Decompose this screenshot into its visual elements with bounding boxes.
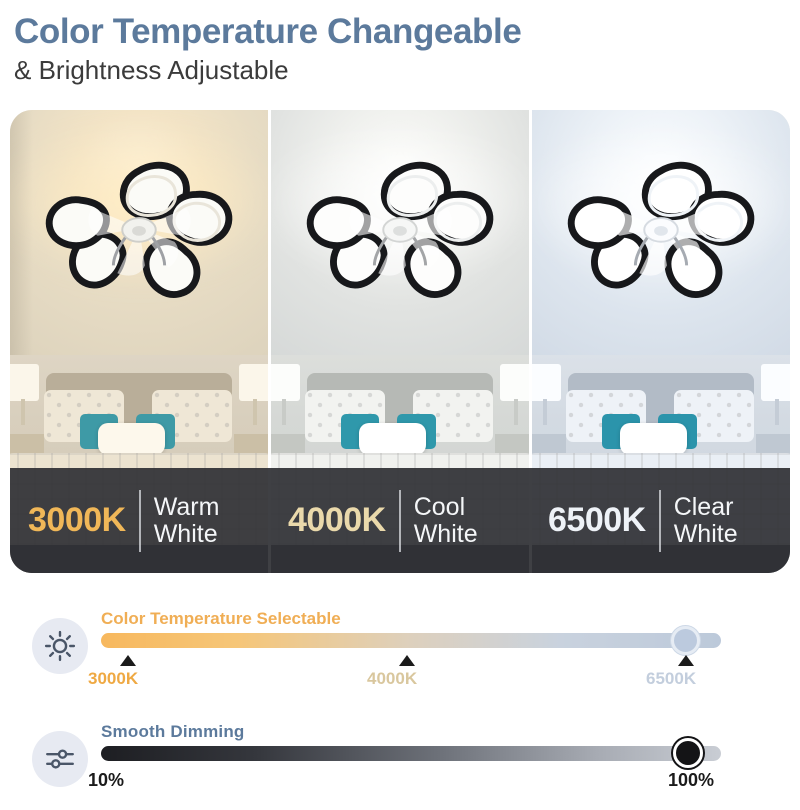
temperature-value-6500k: 6500K <box>548 501 646 540</box>
table-lamp-right <box>234 364 268 429</box>
lamp-stem <box>543 399 546 425</box>
pillow-fur-center <box>359 423 426 456</box>
ceiling-warm <box>10 110 268 355</box>
dimming-slider-label: Smooth Dimming <box>101 722 245 742</box>
label-divider <box>659 490 661 552</box>
lamp-shade <box>271 364 300 401</box>
sun-brightness-icon <box>32 618 88 674</box>
page-title: Color Temperature Changeable <box>14 12 800 51</box>
flower-ceiling-fan-light <box>292 157 509 305</box>
white-name-line2: White <box>414 521 478 548</box>
white-name-line1: Warm <box>154 494 220 521</box>
table-lamp-left <box>532 364 566 429</box>
white-name-line2: White <box>154 521 220 548</box>
tick-marker-6500k <box>678 655 694 666</box>
flower-ceiling-fan-light <box>553 157 770 305</box>
dimming-slider-track[interactable] <box>101 746 721 761</box>
sliders-adjust-icon <box>32 731 88 787</box>
dimming-slider-handle[interactable] <box>673 738 703 768</box>
lamp-shade <box>761 364 790 401</box>
pillow-fur-center <box>98 423 165 456</box>
white-name-warm: Warm White <box>154 494 220 548</box>
table-lamp-left <box>271 364 305 429</box>
tick-label-6500k: 6500K <box>646 669 696 689</box>
white-name-cool: Cool White <box>414 494 478 548</box>
label-cell-3000k: 3000K Warm White <box>10 468 270 573</box>
lamp-stem <box>775 399 778 425</box>
temperature-value-3000k: 3000K <box>28 501 126 540</box>
lamp-stem <box>282 399 285 425</box>
page-subtitle: & Brightness Adjustable <box>14 56 800 85</box>
dimming-max-label: 100% <box>668 770 714 791</box>
label-cell-6500k: 6500K Clear White <box>530 468 790 573</box>
lamp-shade <box>239 364 268 401</box>
dimming-min-label: 10% <box>88 770 124 791</box>
temperature-label-bar: 3000K Warm White 4000K Cool White 6500K … <box>10 468 790 573</box>
table-lamp-right <box>756 364 790 429</box>
label-divider <box>139 490 141 552</box>
flower-ceiling-fan-light <box>31 157 248 305</box>
label-divider <box>399 490 401 552</box>
lamp-shade <box>10 364 39 401</box>
ceiling-neutral <box>271 110 529 355</box>
ceiling-cool <box>532 110 790 355</box>
white-name-clear: Clear White <box>674 494 738 548</box>
tick-marker-4000k <box>399 655 415 666</box>
color-temperature-slider-handle[interactable] <box>671 626 700 655</box>
lamp-stem <box>514 399 517 425</box>
table-lamp-right <box>495 364 529 429</box>
white-name-line2: White <box>674 521 738 548</box>
color-temperature-slider-label: Color Temperature Selectable <box>101 609 341 629</box>
lamp-shade <box>532 364 561 401</box>
white-name-line1: Cool <box>414 494 478 521</box>
header: Color Temperature Changeable & Brightnes… <box>0 0 800 85</box>
white-name-line1: Clear <box>674 494 738 521</box>
tick-label-4000k: 4000K <box>367 669 417 689</box>
dimming-slider-row: Smooth Dimming 10% 100% <box>0 718 800 810</box>
lamp-stem <box>21 399 24 425</box>
lamp-stem <box>253 399 256 425</box>
tick-marker-3000k <box>120 655 136 666</box>
color-temperature-slider-row: Color Temperature Selectable 3000K 4000K… <box>0 605 800 697</box>
color-temperature-slider-track[interactable] <box>101 633 721 648</box>
label-cell-4000k: 4000K Cool White <box>270 468 530 573</box>
lamp-shade <box>500 364 529 401</box>
temperature-value-4000k: 4000K <box>288 501 386 540</box>
tick-label-3000k: 3000K <box>88 669 138 689</box>
table-lamp-left <box>10 364 44 429</box>
pillow-fur-center <box>620 423 687 456</box>
